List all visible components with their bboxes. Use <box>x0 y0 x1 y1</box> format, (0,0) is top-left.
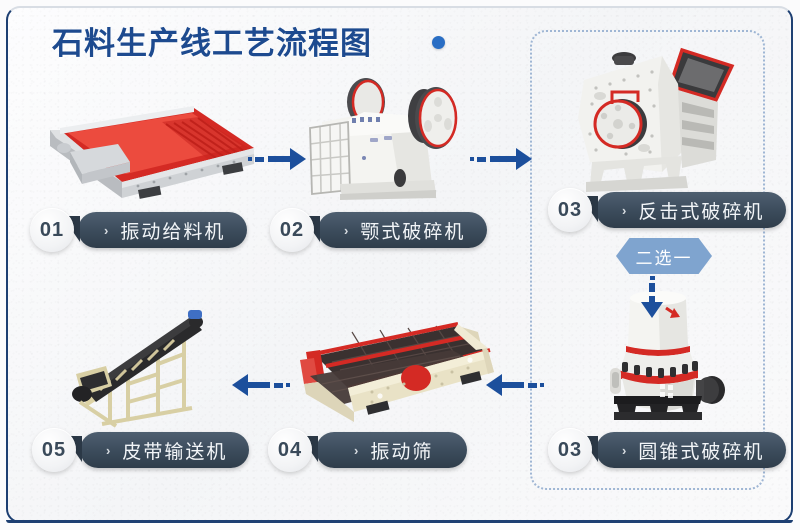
step-tag-jaw-crusher[interactable]: › 颚式破碎机 <box>318 212 487 248</box>
chevron-right-icon: › <box>354 443 360 458</box>
step-tag-belt-conveyor[interactable]: › 皮带输送机 <box>80 432 249 468</box>
step-badge-05: 05 <box>32 428 76 472</box>
step-tag-impact-crusher[interactable]: › 反击式破碎机 <box>596 192 786 228</box>
arrow-screen-to-conveyor <box>232 374 290 396</box>
machine-vibrating-screen <box>292 310 504 428</box>
step-label-belt-conveyor: 皮带输送机 <box>122 437 227 464</box>
title-dot-icon <box>432 36 445 49</box>
step-badge-03-cone: 03 <box>548 428 592 472</box>
machine-jaw-crusher <box>304 72 482 200</box>
arrow-jaw-to-impact <box>470 148 532 170</box>
step-label-vibrating-feeder: 振动给料机 <box>120 217 225 244</box>
step-tag-vibrating-feeder[interactable]: › 振动给料机 <box>78 212 247 248</box>
machine-belt-conveyor <box>66 304 234 430</box>
step-label-vibrating-screen: 振动筛 <box>370 437 433 464</box>
step-label-cone-crusher: 圆锥式破碎机 <box>638 437 764 464</box>
chevron-right-icon: › <box>622 443 628 458</box>
step-label-impact-crusher: 反击式破碎机 <box>638 197 764 224</box>
step-badge-02: 02 <box>270 208 314 252</box>
step-tag-cone-crusher[interactable]: › 圆锥式破碎机 <box>596 432 786 468</box>
chevron-right-icon: › <box>106 443 112 458</box>
machine-impact-crusher <box>566 44 742 194</box>
flowchart-canvas: 石料生产线工艺流程图 <box>0 0 800 530</box>
step-badge-03-impact: 03 <box>548 188 592 232</box>
step-label-jaw-crusher: 颚式破碎机 <box>360 217 465 244</box>
machine-vibrating-feeder <box>26 86 262 204</box>
step-badge-01: 01 <box>30 208 74 252</box>
chevron-right-icon: › <box>622 203 628 218</box>
chevron-right-icon: › <box>344 223 350 238</box>
arrow-branch-down <box>641 276 663 318</box>
arrow-crusher-to-screen <box>486 374 544 396</box>
page-title: 石料生产线工艺流程图 <box>52 18 372 63</box>
chevron-right-icon: › <box>104 223 110 238</box>
step-badge-04: 04 <box>268 428 312 472</box>
machine-cone-crusher <box>588 284 740 422</box>
arrow-feeder-to-jaw <box>248 148 306 170</box>
branch-note-choose-one: 二选一 <box>616 238 712 274</box>
step-tag-vibrating-screen[interactable]: › 振动筛 <box>316 432 467 468</box>
